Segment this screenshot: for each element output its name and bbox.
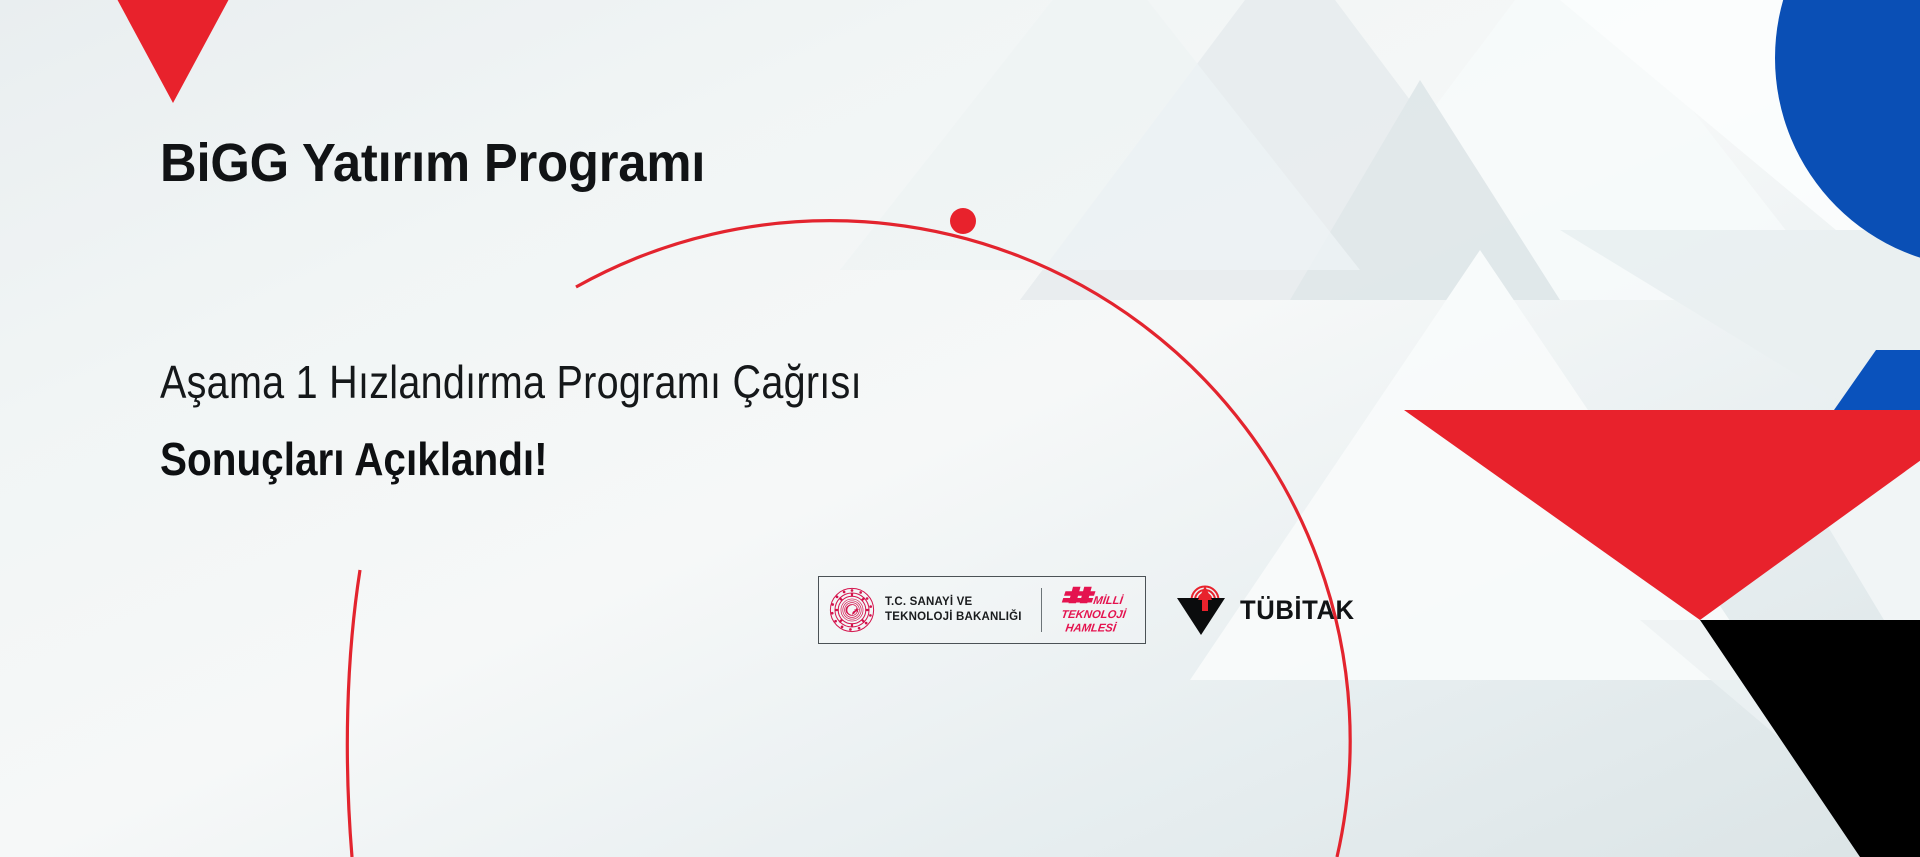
svg-text:HAMLESİ: HAMLESİ (1064, 622, 1117, 635)
turkish-republic-seal-icon (829, 587, 875, 633)
call-subtitle-line-2: Sonuçları Açıklandı! (160, 432, 548, 486)
bigg-investment-program-banner: BiGG Yatırım Programı Aşama 1 Hızlandırm… (0, 0, 1920, 857)
ministry-name: T.C. SANAYİ VE TEKNOLOJİ BAKANLIĞI (885, 595, 1022, 625)
logo-strip: T.C. SANAYİ VE TEKNOLOJİ BAKANLIĞI (818, 576, 1360, 644)
banner-content: BiGG Yatırım Programı Aşama 1 Hızlandırm… (0, 0, 1920, 857)
page-title: BiGG Yatırım Programı (160, 132, 705, 194)
svg-text:TEKNOLOJİ: TEKNOLOJİ (1061, 608, 1127, 621)
tubitak-wordmark: TÜBİTAK (1240, 595, 1355, 626)
ministry-name-line-1: T.C. SANAYİ VE (885, 596, 972, 608)
tubitak-logo: TÜBİTAK (1174, 585, 1361, 635)
ministry-name-line-2: TEKNOLOJİ BAKANLIĞI (885, 611, 1022, 623)
tubitak-triangle-mark-icon (1174, 585, 1228, 635)
logo-divider (1041, 588, 1042, 632)
milli-teknoloji-hamlesi-icon: MİLLİ TEKNOLOJİ HAMLESİ (1061, 585, 1133, 635)
ministry-logo-box: T.C. SANAYİ VE TEKNOLOJİ BAKANLIĞI (818, 576, 1146, 644)
call-subtitle-line-1: Aşama 1 Hızlandırma Programı Çağrısı (160, 355, 862, 409)
svg-text:MİLLİ: MİLLİ (1092, 594, 1124, 607)
